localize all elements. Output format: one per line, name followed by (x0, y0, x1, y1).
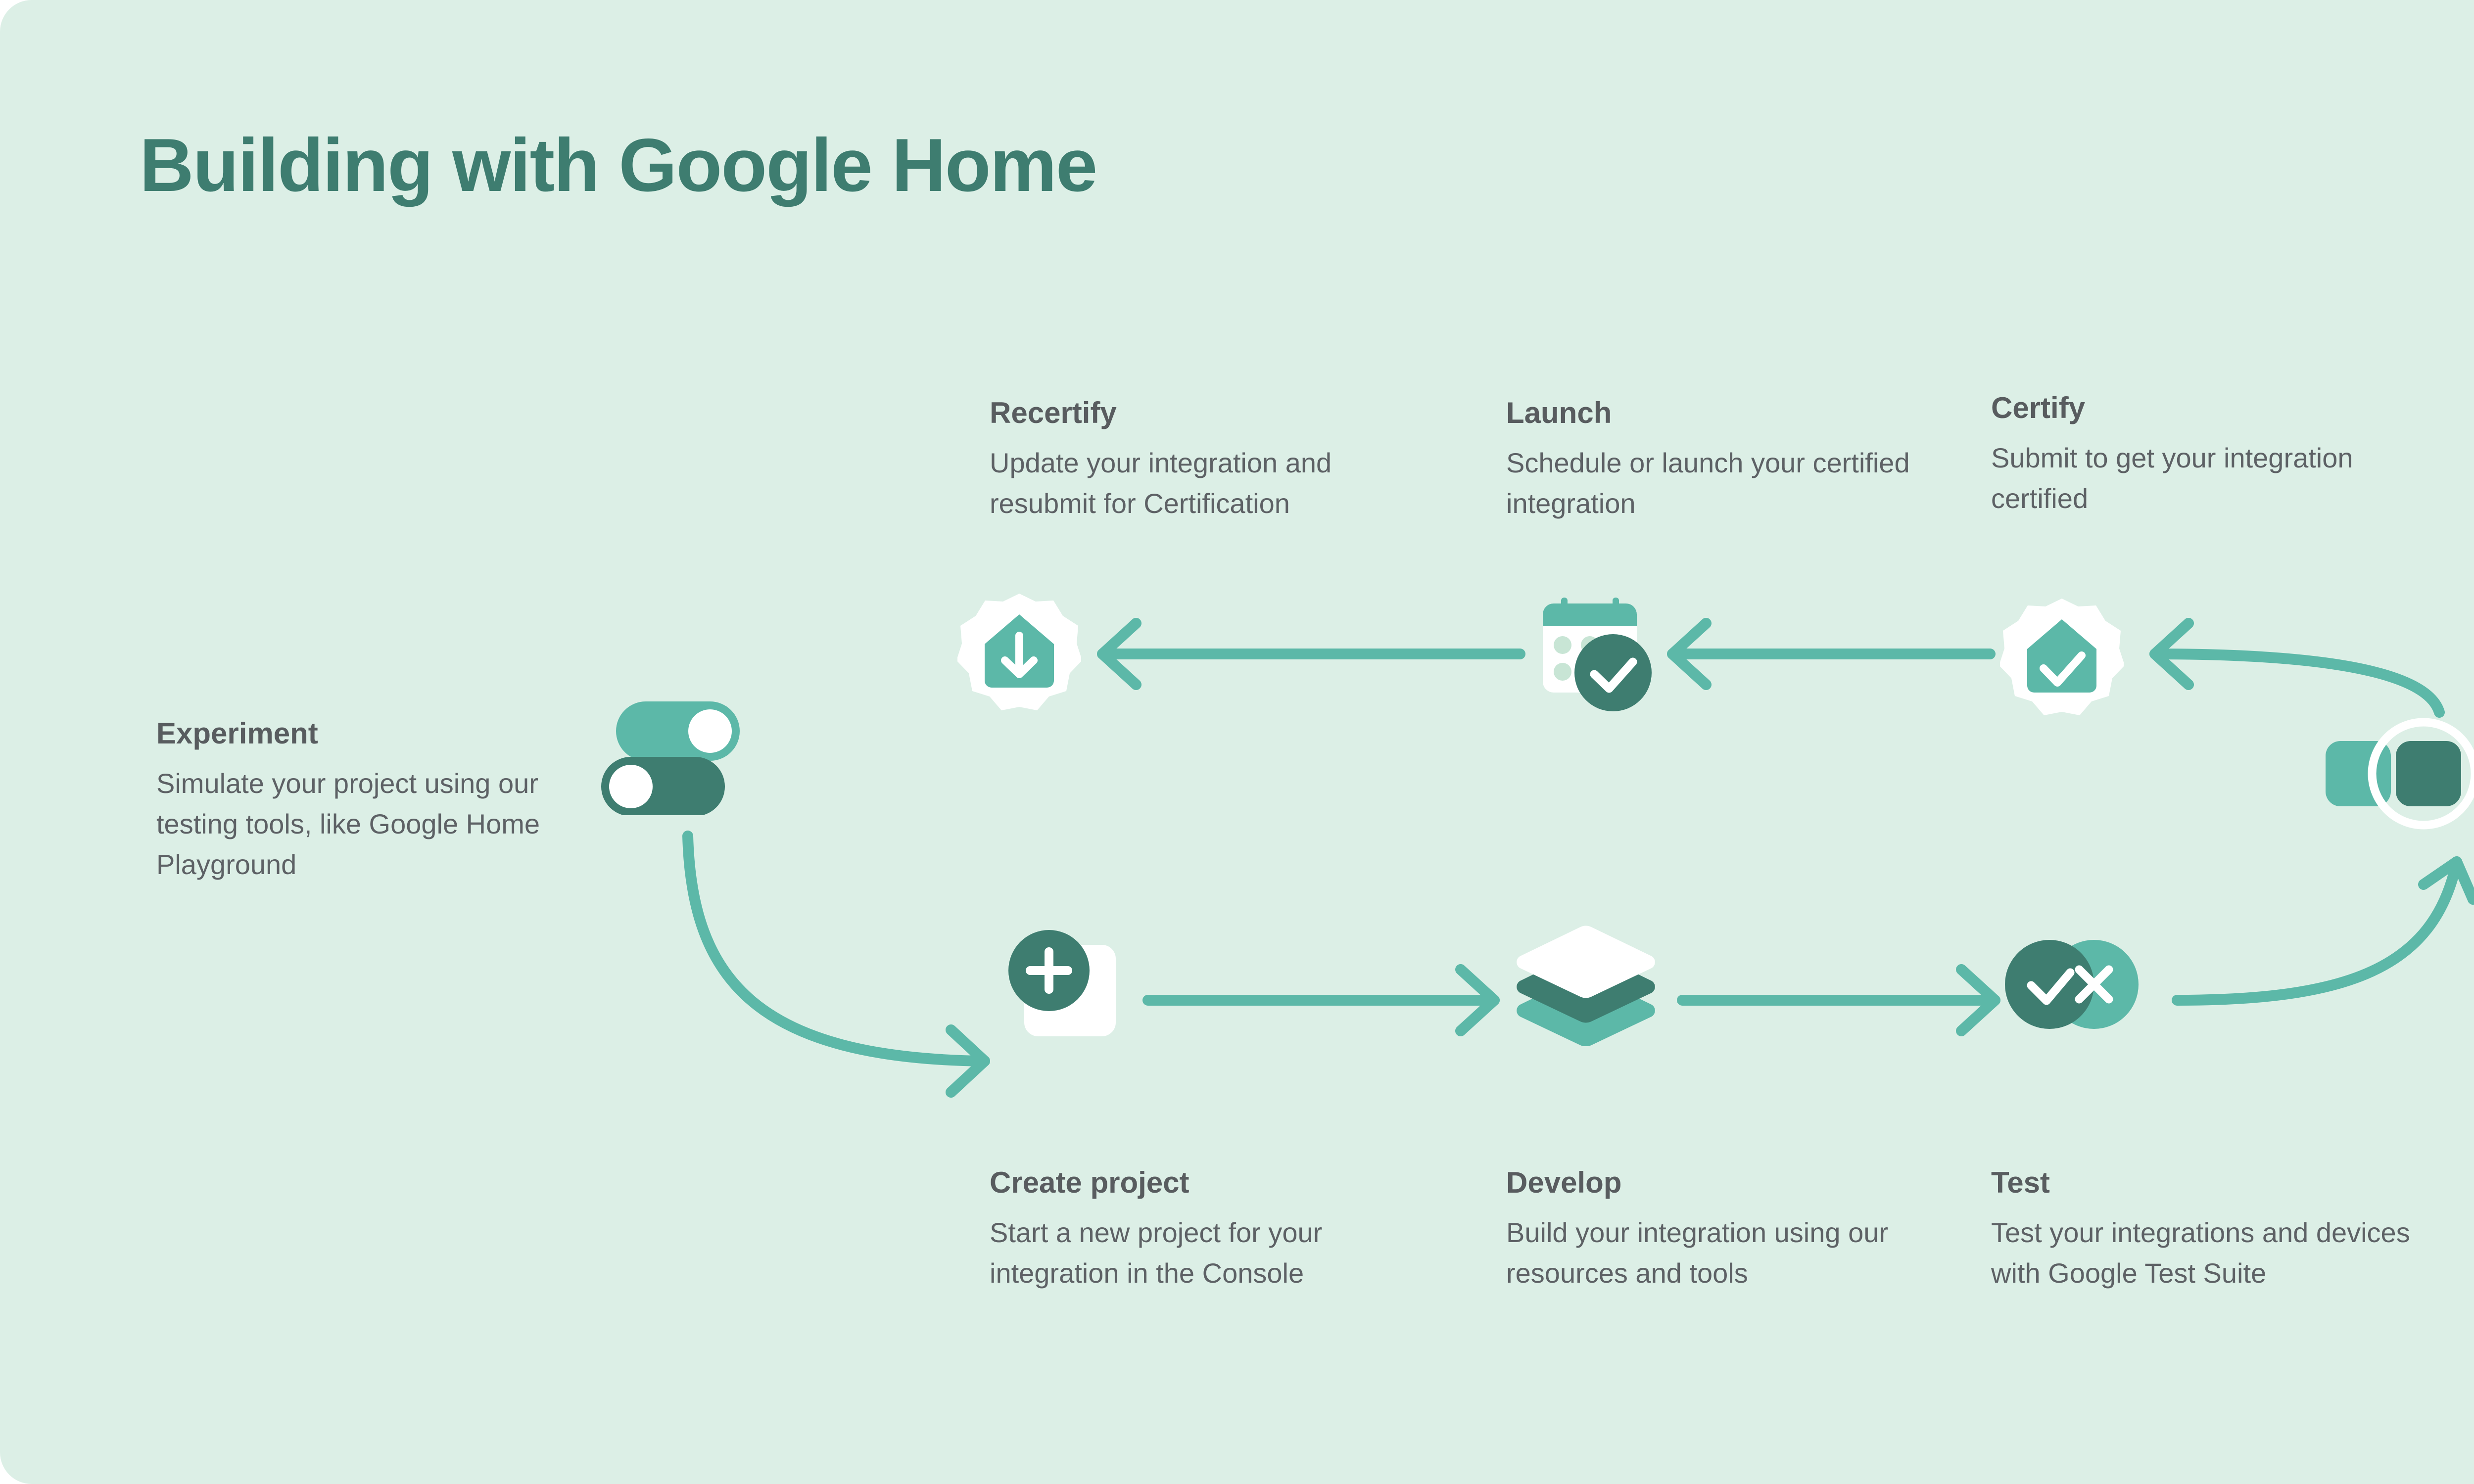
toggle-switches-icon (601, 701, 755, 815)
connector-certify-to-launch (1672, 623, 1990, 685)
step-title-develop: Develop (1506, 1165, 1942, 1200)
badge-download-icon (957, 593, 1081, 722)
step-description-experiment: Simulate your project using our testing … (156, 763, 602, 884)
add-document-icon (987, 921, 1121, 1047)
connector-experiment-to-create-project (688, 836, 985, 1092)
devices-circle-icon (2326, 716, 2474, 830)
calendar-check-icon (1530, 598, 1654, 721)
connector-create-project-to-develop (1148, 970, 1494, 1031)
step-description-launch: Schedule or launch your certified integr… (1506, 443, 1917, 524)
step-description-test: Test your integrations and devices with … (1991, 1212, 2466, 1294)
step-certify: Certify Submit to get your integration c… (1991, 391, 2402, 519)
step-title-recertify: Recertify (990, 396, 1425, 430)
connector-launch-to-recertify (1102, 623, 1520, 685)
check-cross-circles-icon (2005, 940, 2156, 1029)
diagram-canvas: Building with Google Home .conn { fill:n… (0, 0, 2474, 1484)
page-title: Building with Google Home (140, 128, 1096, 203)
step-title-create-project: Create project (990, 1165, 1450, 1200)
step-title-test: Test (1991, 1165, 2466, 1200)
step-description-recertify: Update your integration and resubmit for… (990, 443, 1425, 524)
step-create-project: Create project Start a new project for y… (990, 1165, 1450, 1294)
step-description-develop: Build your integration using our resourc… (1506, 1212, 1942, 1294)
layers-icon (1514, 925, 1658, 1046)
connector-develop-to-test (1682, 970, 1995, 1031)
step-title-experiment: Experiment (156, 716, 602, 750)
step-experiment: Experiment Simulate your project using o… (156, 716, 602, 884)
connector-field-trial-to-certify (2155, 623, 2439, 712)
step-title-launch: Launch (1506, 396, 1917, 430)
step-launch: Launch Schedule or launch your certified… (1506, 396, 1917, 524)
step-description-create-project: Start a new project for your integration… (990, 1212, 1450, 1294)
step-recertify: Recertify Update your integration and re… (990, 396, 1425, 524)
step-description-certify: Submit to get your integration certified (1991, 438, 2402, 519)
step-develop: Develop Build your integration using our… (1506, 1165, 1942, 1294)
step-test: Test Test your integrations and devices … (1991, 1165, 2466, 1294)
certified-badge-check-icon (2000, 598, 2125, 727)
step-title-certify: Certify (1991, 391, 2402, 425)
connector-test-to-field-trial (2177, 862, 2473, 1000)
